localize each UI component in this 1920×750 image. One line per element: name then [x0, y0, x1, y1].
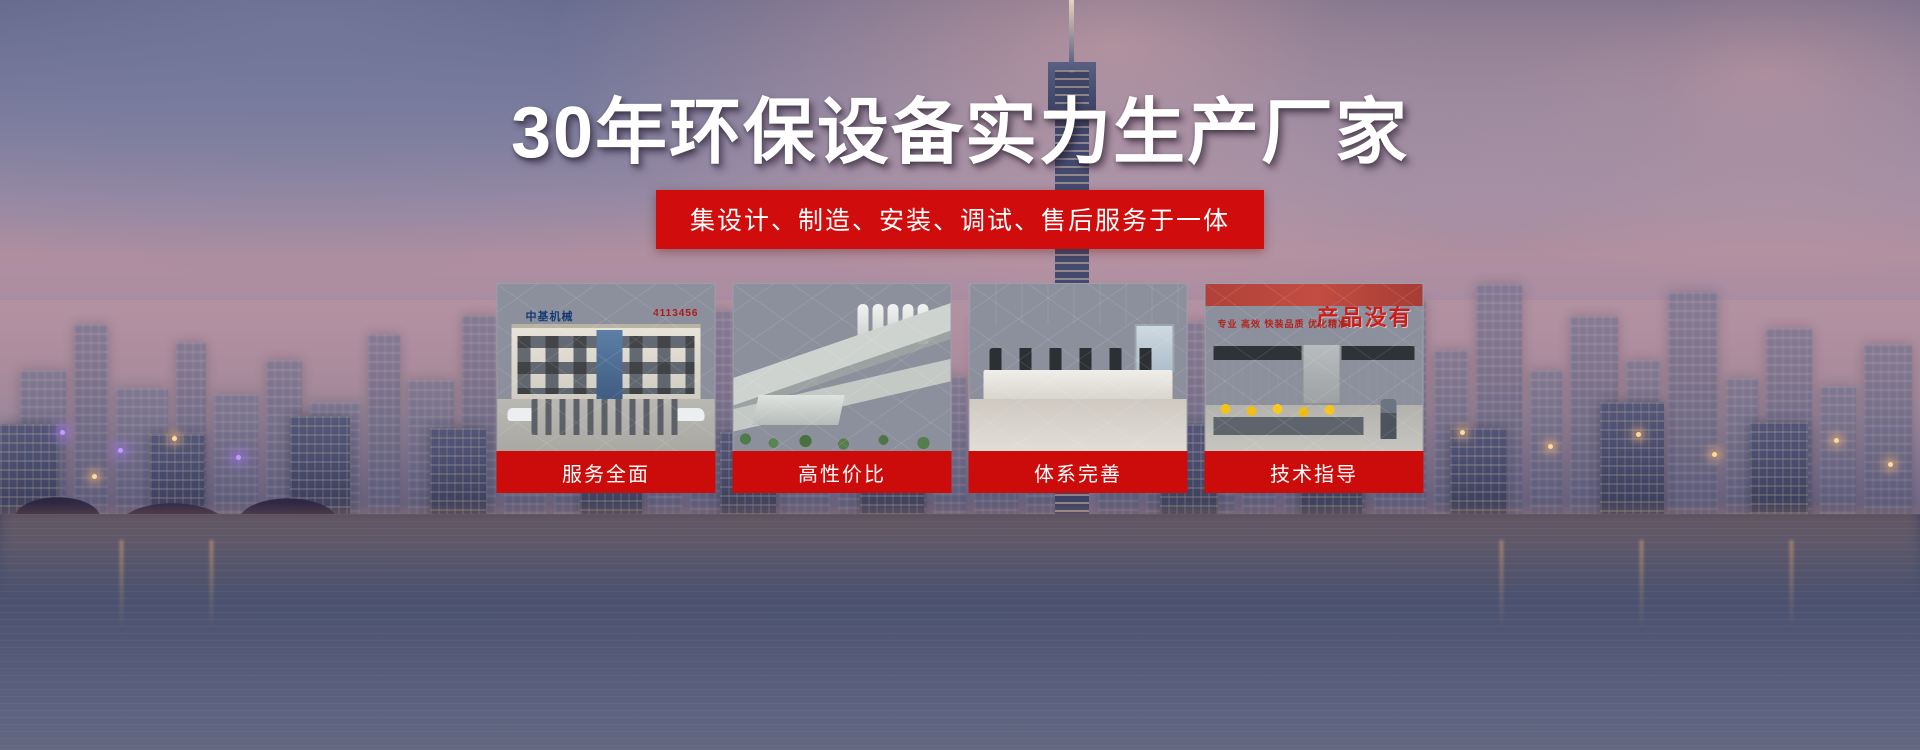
production-plant-aerial-photo — [733, 283, 952, 451]
factory-slogan-small: 专业 高效 快装品质 优化精准 — [1218, 318, 1349, 330]
hero-banner: 30年环保设备实力生产厂家 集设计、制造、安装、调试、售后服务于一体 中基机械 … — [0, 0, 1920, 750]
factory-workers-photo: 产品没有 专业 高效 快装品质 优化精准 — [1205, 283, 1424, 451]
feature-card-caption: 体系完善 — [969, 451, 1188, 493]
feature-card[interactable]: 产品没有 专业 高效 快装品质 优化精准 技术指导 — [1205, 283, 1424, 493]
company-office-building-photo: 中基机械 4113456 — [497, 283, 716, 451]
feature-card-caption: 服务全面 — [497, 451, 716, 493]
office-interior-staff-photo — [969, 283, 1188, 451]
building-phone-text: 4113456 — [653, 308, 698, 319]
building-sign-text: 中基机械 — [526, 308, 574, 324]
feature-card-caption: 技术指导 — [1205, 451, 1424, 493]
feature-card-list: 中基机械 4113456 服务全面 — [497, 283, 1424, 493]
feature-card[interactable]: 体系完善 — [969, 283, 1188, 493]
hero-headline: 30年环保设备实力生产厂家 — [0, 97, 1920, 169]
hero-content: 30年环保设备实力生产厂家 集设计、制造、安装、调试、售后服务于一体 中基机械 … — [0, 0, 1920, 750]
feature-card-caption: 高性价比 — [733, 451, 952, 493]
workers-helmets — [1214, 401, 1364, 435]
hero-subtitle-bar: 集设计、制造、安装、调试、售后服务于一体 — [656, 190, 1264, 249]
feature-card[interactable]: 高性价比 — [733, 283, 952, 493]
feature-card[interactable]: 中基机械 4113456 服务全面 — [497, 283, 716, 493]
